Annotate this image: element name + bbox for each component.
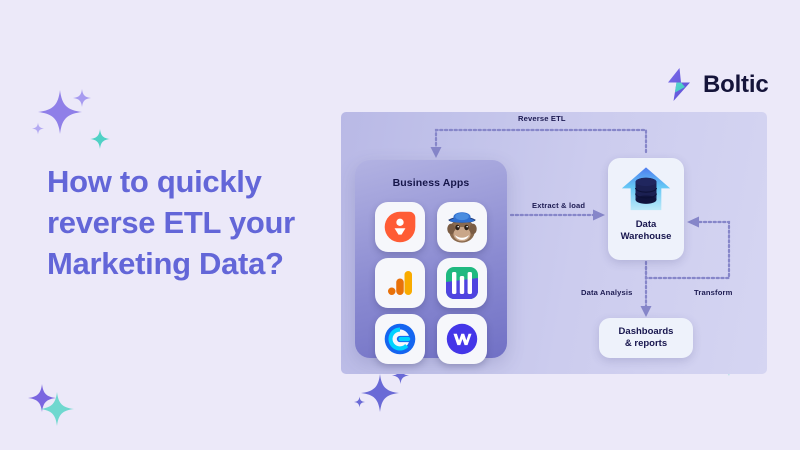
dashboards-reports-label: Dashboards & reports xyxy=(619,326,674,350)
sparkle-bottom-left-teal xyxy=(40,390,74,428)
edge-label-data-analysis: Data Analysis xyxy=(581,288,632,297)
database-cylinder xyxy=(636,178,657,204)
dashboards-label-line2: & reports xyxy=(625,338,667,349)
sparkle-top-left-large xyxy=(38,88,82,136)
data-warehouse-label: Data Warehouse xyxy=(621,219,672,242)
lightning-bolt-icon xyxy=(664,68,694,101)
dashboards-label-line1: Dashboards xyxy=(619,326,674,337)
mixpanel-icon xyxy=(442,263,482,303)
app-tile-webflow[interactable] xyxy=(437,314,487,364)
sparkle-top-left-small xyxy=(73,88,91,108)
sparkle-bottom-left-purple xyxy=(28,382,56,414)
app-tile-google-analytics[interactable] xyxy=(375,258,425,308)
page-title: How to quickly reverse ETL your Marketin… xyxy=(47,162,347,285)
sparkle-bottom-mid-tiny xyxy=(354,396,365,408)
data-warehouse-icon xyxy=(620,165,672,215)
sparkle-bottom-mid-large xyxy=(361,372,399,414)
business-apps-panel: Business Apps xyxy=(355,160,507,358)
edge-transform-arrow xyxy=(687,217,699,228)
google-analytics-icon xyxy=(385,268,415,298)
app-tile-mailchimp[interactable] xyxy=(437,202,487,252)
business-apps-grid xyxy=(375,202,487,364)
brand-name: Boltic xyxy=(703,73,768,97)
data-warehouse-label-line2: Warehouse xyxy=(621,231,672,242)
etl-diagram: Reverse ETL Extract & load Data Analysis… xyxy=(341,112,767,374)
sparkle-top-left-tiny xyxy=(32,122,44,135)
edge-label-extract-load: Extract & load xyxy=(532,201,585,210)
brand-logo: Boltic xyxy=(664,68,768,101)
edge-reverse-etl-arrow xyxy=(431,147,442,158)
edge-reverse-etl xyxy=(436,130,646,152)
convertkit-icon xyxy=(382,321,418,357)
edge-extract-load-arrow xyxy=(593,210,605,221)
webflow-icon xyxy=(443,320,481,358)
edge-data-analysis-arrow xyxy=(641,306,652,317)
edge-label-reverse-etl: Reverse ETL xyxy=(518,114,566,123)
data-warehouse-label-line1: Data xyxy=(636,219,657,230)
dashboards-reports-card[interactable]: Dashboards & reports xyxy=(599,318,693,358)
business-apps-title: Business Apps xyxy=(355,177,507,189)
edge-label-transform: Transform xyxy=(694,288,732,297)
app-tile-convertkit[interactable] xyxy=(375,314,425,364)
data-warehouse-card[interactable]: Data Warehouse xyxy=(608,158,684,260)
mailchimp-icon xyxy=(443,208,481,246)
app-tile-hubspot[interactable] xyxy=(375,202,425,252)
app-tile-mixpanel[interactable] xyxy=(437,258,487,308)
hubspot-icon xyxy=(383,210,417,244)
sparkle-top-left-teal xyxy=(90,128,110,150)
